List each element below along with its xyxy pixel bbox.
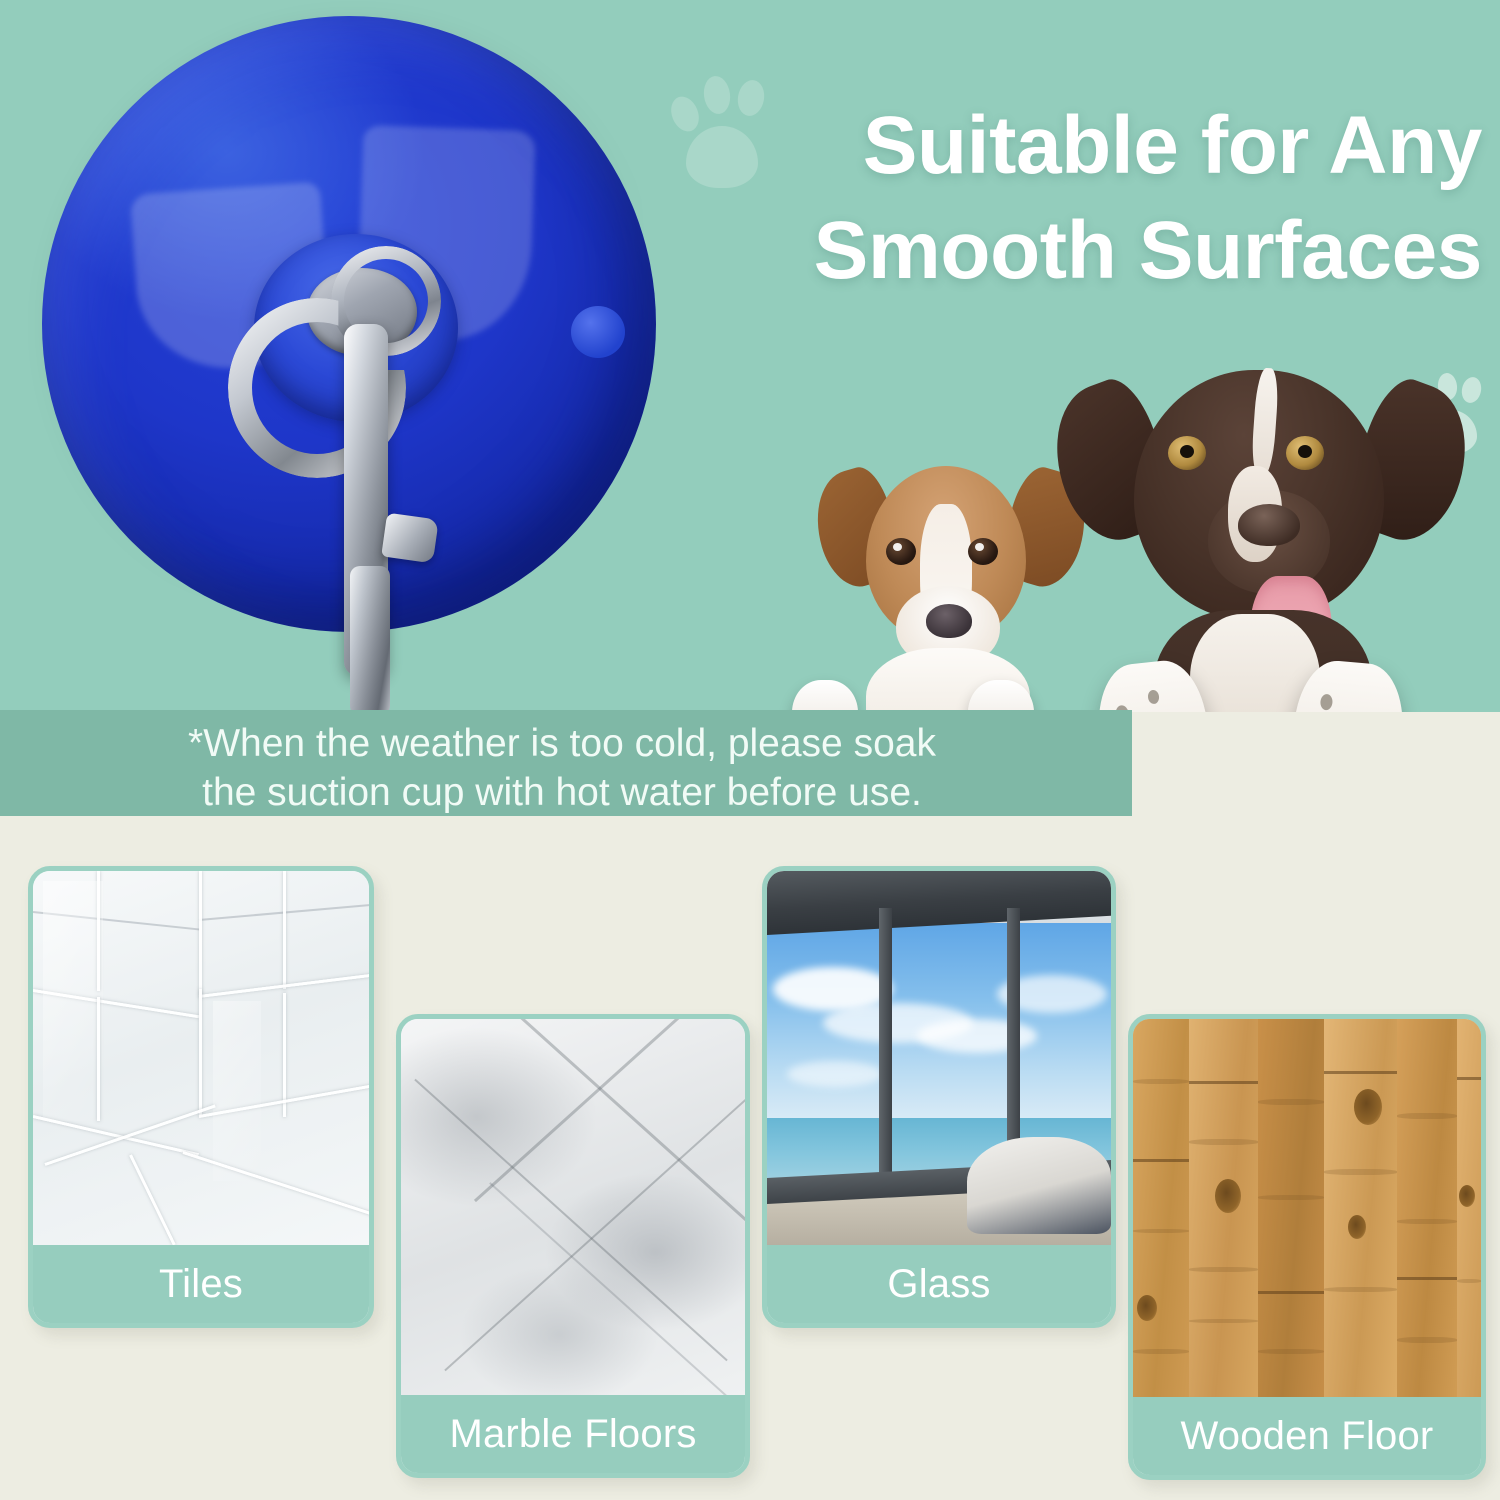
card-caption: Glass: [767, 1245, 1111, 1323]
wood-plank: [1457, 1019, 1481, 1397]
page-title: Suitable for Any Smooth Surfaces: [738, 94, 1482, 304]
wood-plank: [1133, 1019, 1189, 1397]
dog-eye: [1168, 436, 1206, 470]
note-text: *When the weather is too cold, please so…: [42, 720, 1082, 818]
wood-plank: [1397, 1019, 1456, 1397]
surface-card-marble-floors[interactable]: Marble Floors: [396, 1014, 750, 1478]
snap-hook-latch: [381, 513, 439, 564]
dog-nose: [926, 604, 972, 638]
dog-eye: [968, 538, 998, 565]
pointer-mix-dog: [1042, 362, 1482, 712]
cold-weather-note-banner: *When the weather is too cold, please so…: [0, 710, 1132, 816]
wood-thumbnail: [1133, 1019, 1481, 1397]
headline-line-2: Smooth Surfaces: [738, 199, 1482, 304]
window-mullion: [879, 908, 892, 1192]
white-tile-bathroom-corner-art: [33, 871, 369, 1245]
card-caption: Tiles: [33, 1245, 369, 1323]
wood-plank: [1324, 1019, 1397, 1397]
dog-eye: [886, 538, 916, 565]
hero-section: Suitable for Any Smooth Surfaces: [0, 0, 1500, 712]
surface-card-glass[interactable]: Glass: [762, 866, 1116, 1328]
lounge-furniture: [967, 1137, 1111, 1234]
note-line-1: *When the weather is too cold, please so…: [42, 720, 1082, 769]
marble-floor-art: [401, 1019, 745, 1395]
wood-plank: [1258, 1019, 1324, 1397]
headline-line-1: Suitable for Any: [863, 100, 1482, 191]
marble-thumbnail: [401, 1019, 745, 1395]
tiles-thumbnail: [33, 871, 369, 1245]
card-caption: Wooden Floor: [1133, 1397, 1481, 1475]
wood-plank: [1189, 1019, 1259, 1397]
window-ocean-view-art: [767, 871, 1111, 1245]
infographic-root: Suitable for Any Smooth Surfaces: [0, 0, 1500, 1500]
suction-cup-product-image: [28, 6, 688, 706]
oak-plank-floor-art: [1133, 1019, 1481, 1397]
snap-hook-lower-shaft: [350, 566, 390, 712]
dog-nose: [1238, 504, 1300, 546]
card-caption: Marble Floors: [401, 1395, 745, 1473]
surface-card-wooden-floor[interactable]: Wooden Floor: [1128, 1014, 1486, 1480]
suction-cup-nub: [571, 306, 625, 358]
surface-card-tiles[interactable]: Tiles: [28, 866, 374, 1328]
dog-eye: [1286, 436, 1324, 470]
note-line-2: the suction cup with hot water before us…: [42, 769, 1082, 818]
dog-paw: [792, 680, 858, 712]
glass-thumbnail: [767, 871, 1111, 1245]
